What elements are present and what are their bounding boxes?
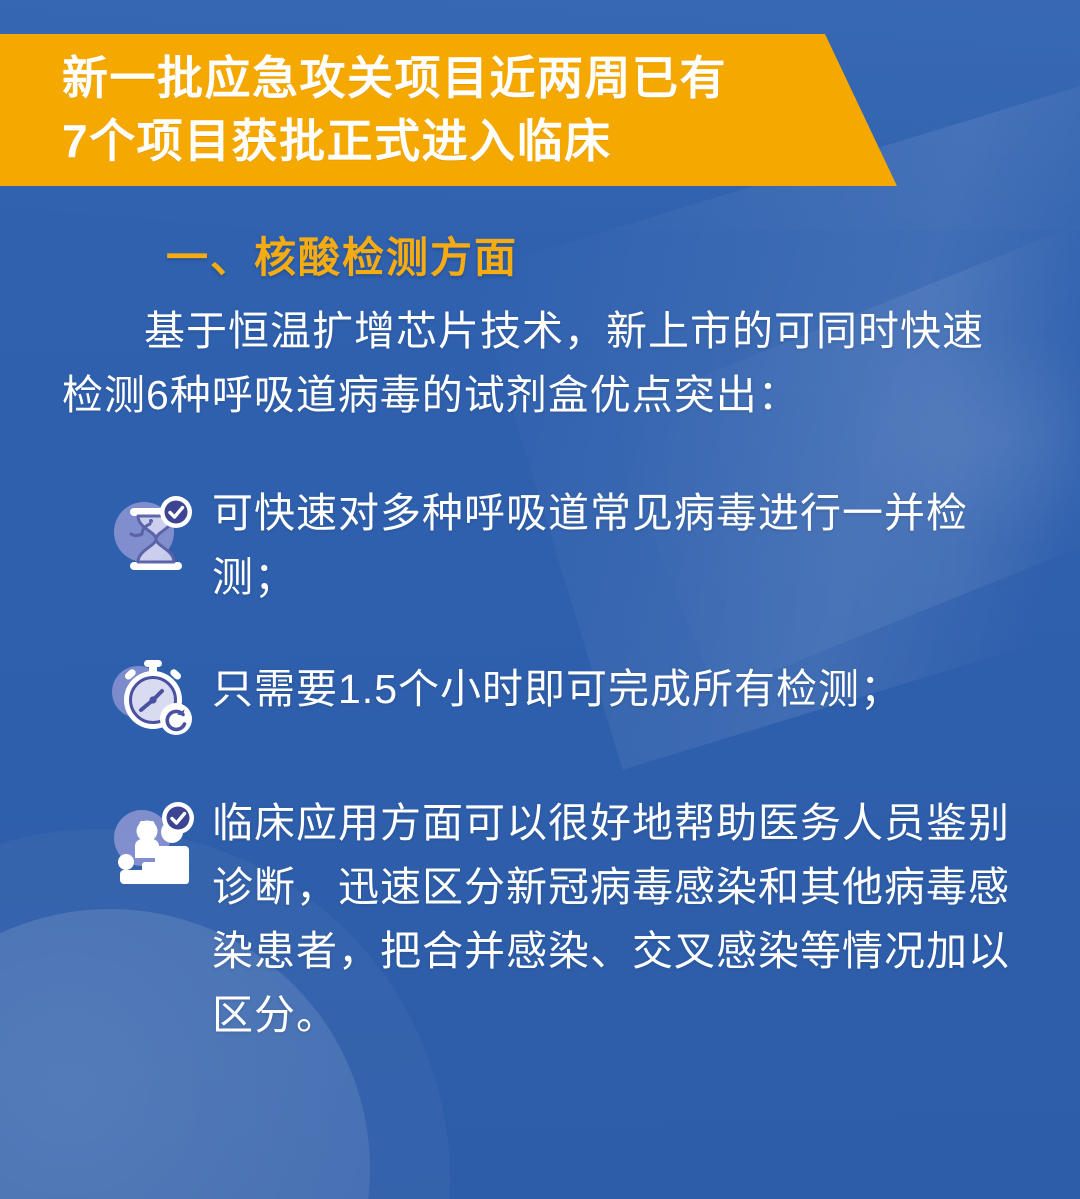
medical-staff-patient-check-icon — [104, 796, 200, 892]
stopwatch-refresh-icon — [104, 648, 200, 744]
list-item-label: 临床应用方面可以很好地帮助医务人员鉴别诊断，迅速区分新冠病毒感染和其他病毒感染患… — [212, 790, 1012, 1048]
infographic-poster: 新一批应急攻关项目近两周已有 7个项目获批正式进入临床 一、核酸检测方面 基于恒… — [0, 0, 1080, 1199]
content-area: 一、核酸检测方面 基于恒温扩增芯片技术，新上市的可同时快速检测6种呼吸道病毒的试… — [0, 232, 1080, 1048]
section-heading: 一、核酸检测方面 — [0, 232, 1080, 285]
header-banner: 新一批应急攻关项目近两周已有 7个项目获批正式进入临床 — [0, 34, 900, 186]
list-item: 临床应用方面可以很好地帮助医务人员鉴别诊断，迅速区分新冠病毒感染和其他病毒感染患… — [104, 790, 1028, 1048]
nasal-swab-test-check-icon — [104, 484, 200, 580]
list-item-label: 只需要1.5个小时即可完成所有检测； — [212, 656, 902, 722]
list-item: 只需要1.5个小时即可完成所有检测； — [104, 656, 1028, 744]
banner-title-line-1: 新一批应急攻关项目近两周已有 — [62, 47, 900, 110]
section-intro-paragraph: 基于恒温扩增芯片技术，新上市的可同时快速检测6种呼吸道病毒的试剂盒优点突出： — [0, 285, 1080, 429]
list-item-label: 可快速对多种呼吸道常见病毒进行一并检测； — [212, 480, 1002, 610]
bullet-list: 可快速对多种呼吸道常见病毒进行一并检测； — [0, 480, 1080, 1048]
list-item: 可快速对多种呼吸道常见病毒进行一并检测； — [104, 480, 1028, 610]
banner-title-line-2: 7个项目获批正式进入临床 — [62, 110, 900, 173]
